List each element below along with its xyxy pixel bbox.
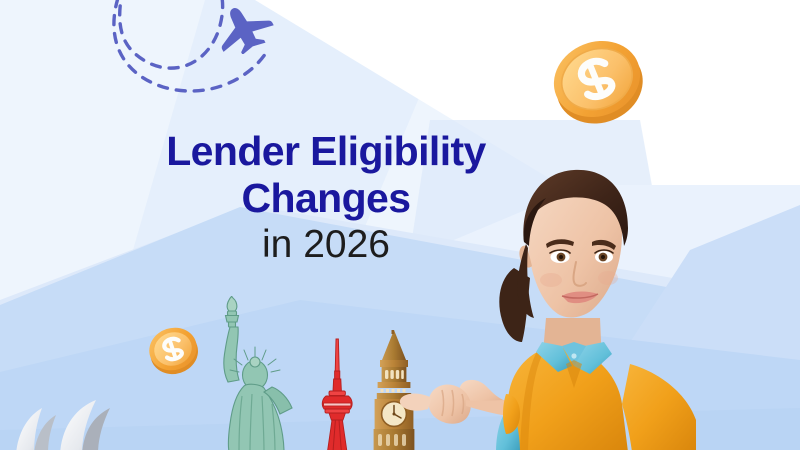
- sydney-opera-house-icon: [0, 398, 148, 450]
- headline-line-1: Lender Eligibility: [104, 130, 548, 173]
- airplane-icon: [212, 2, 274, 54]
- headline: Lender Eligibility Changes in 2026: [104, 130, 548, 266]
- promo-banner: Lender Eligibility Changes in 2026: [0, 0, 800, 450]
- headline-line-3: in 2026: [104, 225, 548, 266]
- headline-line-2: Changes: [104, 177, 548, 220]
- statue-of-liberty-icon: [192, 296, 296, 450]
- coin-large-icon: [540, 22, 655, 137]
